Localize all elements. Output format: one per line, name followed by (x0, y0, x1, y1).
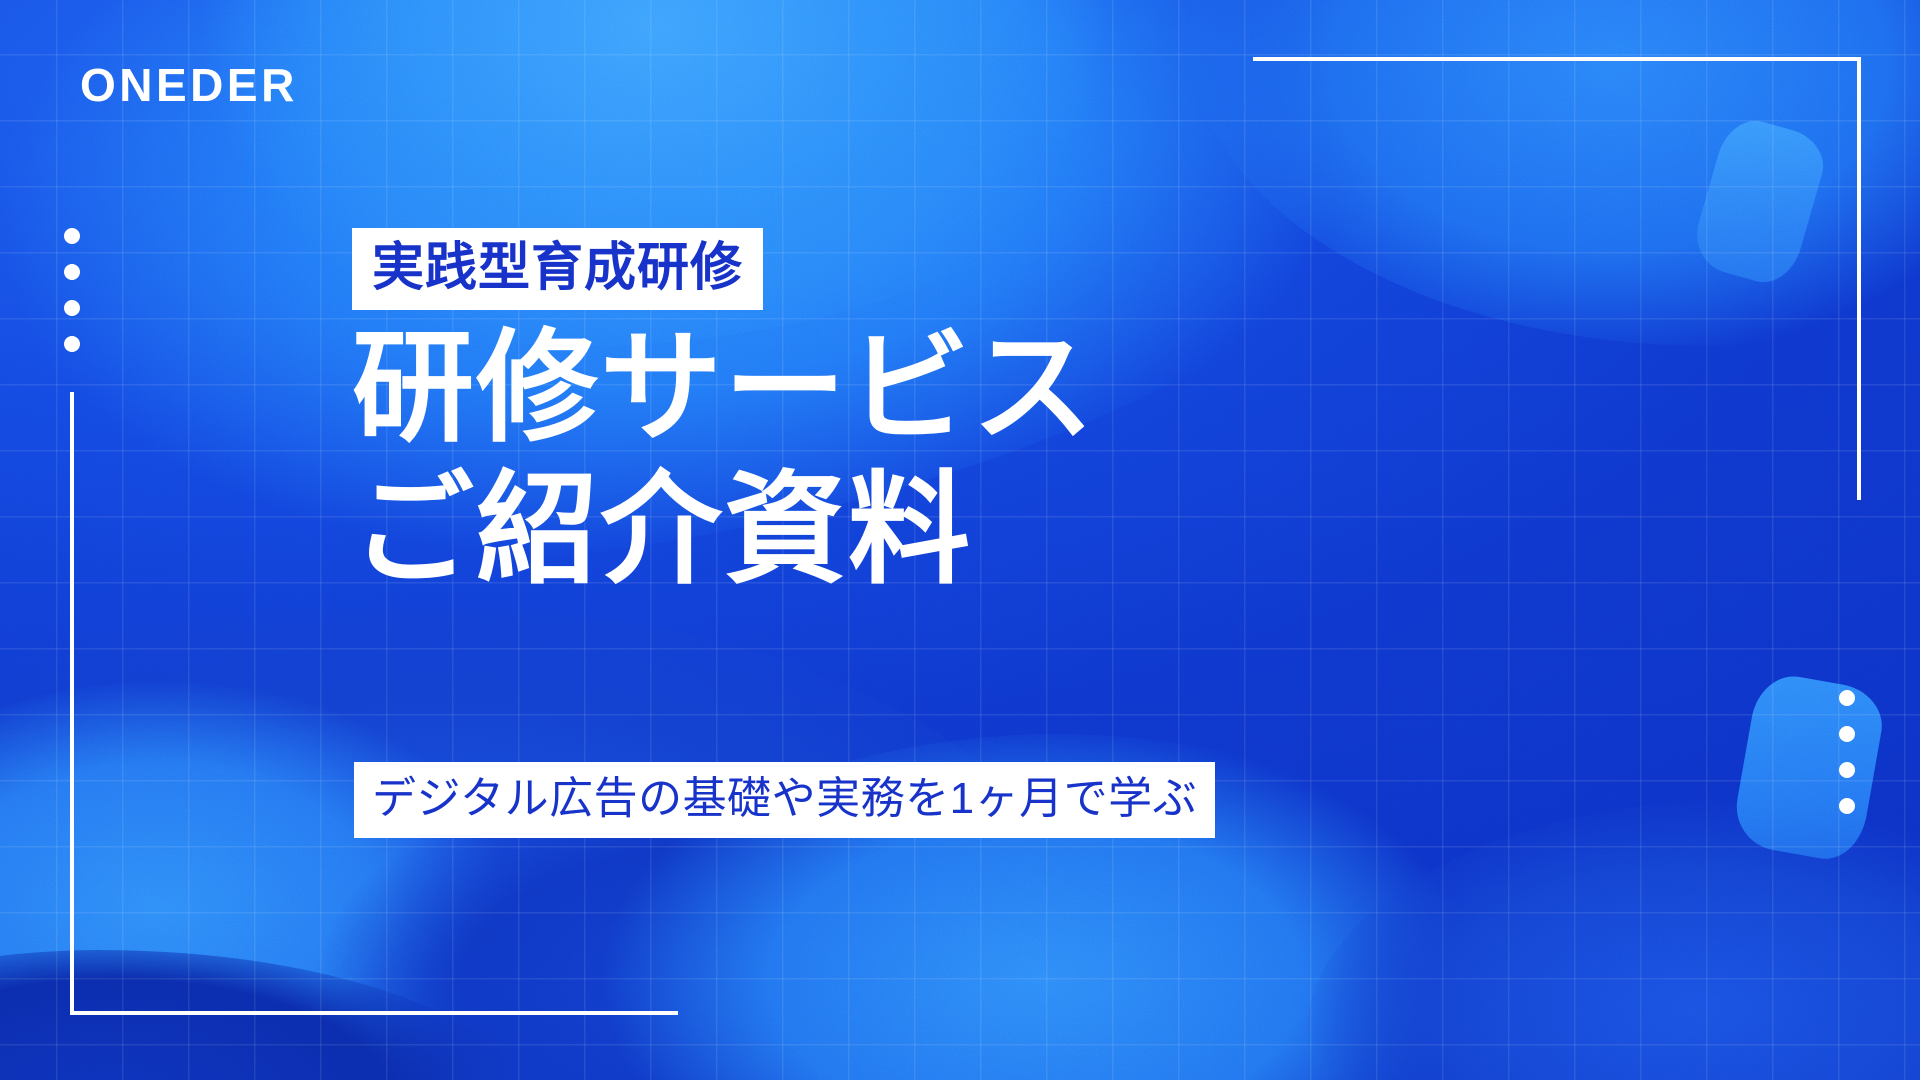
frame-line-left (70, 392, 74, 1015)
dot (64, 336, 80, 352)
dot (64, 228, 80, 244)
frame-line-bottom (70, 1011, 678, 1015)
dot (64, 300, 80, 316)
subtitle-banner: デジタル広告の基礎や実務を1ヶ月で学ぶ (354, 762, 1215, 838)
frame-line-top (1253, 57, 1861, 61)
dot (1839, 762, 1855, 778)
category-badge: 実践型育成研修 (352, 228, 763, 310)
dot (64, 264, 80, 280)
dot-column-left (64, 228, 80, 352)
frame-line-right (1857, 57, 1861, 500)
title-slide: ONEDER 実践型育成研修 研修サービス ご紹介資料 デジタル広告の基礎や実務… (0, 0, 1920, 1080)
brand-logo: ONEDER (80, 62, 298, 108)
page-title-line-2: ご紹介資料 (352, 460, 1096, 602)
dot-column-right (1839, 690, 1855, 814)
page-title-line-1: 研修サービス (352, 318, 1096, 460)
page-title: 研修サービス ご紹介資料 (352, 318, 1096, 601)
dot (1839, 726, 1855, 742)
dot (1839, 798, 1855, 814)
dot (1839, 690, 1855, 706)
